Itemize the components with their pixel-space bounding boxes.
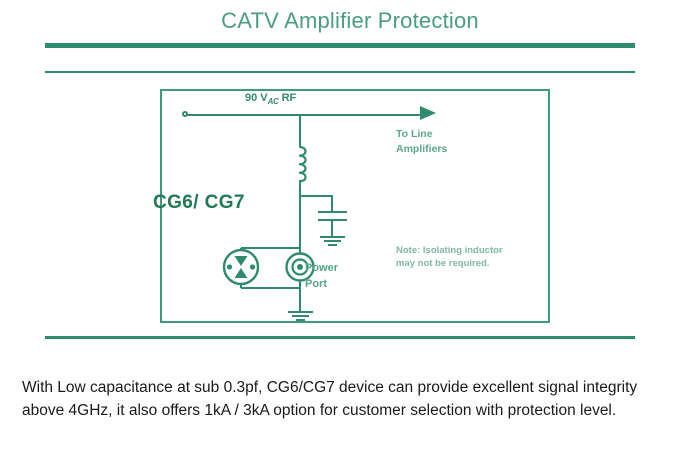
- wire-input-to-output: [186, 114, 424, 116]
- wire-inductor-to-junction: [299, 180, 301, 248]
- main-ground-bar-2: [292, 315, 309, 317]
- source-signal-label: RF: [282, 92, 297, 104]
- wire-gdt-left: [240, 248, 242, 288]
- main-ground-bar-1: [288, 311, 313, 313]
- wire-junction-to-ground: [299, 248, 301, 312]
- wire-capacitor-top-lead: [331, 196, 333, 212]
- wire-gdt-bottom: [241, 287, 300, 289]
- device-model-label: CG6/ CG7: [153, 192, 245, 214]
- power-port-label: Power Port: [305, 260, 338, 292]
- divider-top-thick: [45, 43, 635, 48]
- source-voltage-value: 90 V: [245, 92, 268, 104]
- capacitor-ground-bar-1: [320, 236, 345, 238]
- output-destination-line2: Amplifiers: [396, 142, 447, 157]
- power-port-label-line1: Power: [305, 260, 338, 276]
- page-title: CATV Amplifier Protection: [0, 8, 700, 34]
- capacitor-plate-upper: [318, 211, 347, 213]
- capacitor-ground-bar-3: [328, 244, 337, 246]
- description-caption: With Low capacitance at sub 0.3pf, CG6/C…: [22, 376, 672, 422]
- source-voltage-subscript: AC: [268, 97, 279, 106]
- power-port-label-line2: Port: [305, 276, 338, 292]
- divider-top-thin: [45, 71, 635, 73]
- capacitor-ground-bar-2: [324, 240, 341, 242]
- wire-tap-to-inductor: [299, 115, 301, 146]
- main-ground-bar-3: [296, 319, 305, 321]
- schematic-note: Note: Isolating inductor may not be requ…: [396, 244, 503, 270]
- output-destination-label: To Line Amplifiers: [396, 127, 447, 157]
- wire-capacitor-bottom-lead: [331, 221, 333, 237]
- divider-bottom: [45, 336, 635, 339]
- wire-gdt-top: [241, 247, 300, 249]
- source-voltage-label: 90 VACRF: [245, 92, 296, 106]
- input-terminal-icon: [182, 111, 188, 117]
- wire-to-capacitor: [300, 195, 333, 197]
- schematic-note-line2: may not be required.: [396, 257, 503, 270]
- output-destination-line1: To Line: [396, 127, 447, 142]
- schematic-note-line1: Note: Isolating inductor: [396, 244, 503, 257]
- page-root: CATV Amplifier Protection: [0, 0, 700, 449]
- output-arrow-icon: [420, 106, 436, 120]
